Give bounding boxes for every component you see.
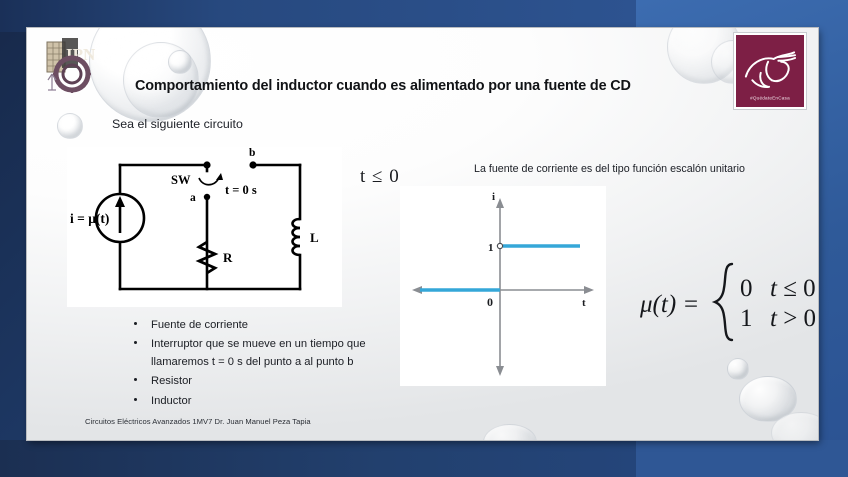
background-bottom-right-strip	[636, 440, 848, 477]
campaign-tagline: #QuédateEnCasa	[721, 95, 818, 101]
switch-time-label: t = 0 s	[225, 183, 257, 197]
list-item: Fuente de corriente	[128, 316, 378, 334]
screen: IPN	[0, 0, 848, 477]
source-label: i = μ(t)	[70, 211, 109, 226]
step-function-chart: i t 1 0	[400, 186, 606, 386]
bubble-decoration	[739, 376, 797, 422]
open-circle-marker	[497, 243, 502, 248]
y-axis-arrow-up	[496, 198, 504, 208]
bubble-decoration	[168, 50, 192, 74]
node-b-label: b	[249, 147, 255, 159]
bullet-dot-icon	[134, 378, 137, 381]
equation-row-1-value: 1	[740, 305, 753, 332]
list-item-label: Resistor	[151, 375, 192, 387]
university-logo: #QuédateEnCasa	[734, 33, 806, 109]
x-axis-label: t	[582, 297, 586, 309]
node-top-dot	[203, 161, 210, 168]
bubble-decoration	[667, 28, 741, 84]
bubble-decoration	[727, 358, 749, 380]
resistor-label: R	[223, 250, 233, 265]
circuit-diagram: i = μ(t) SW t = 0 s a b R L	[67, 147, 342, 307]
node-a-dot	[204, 194, 210, 200]
list-item-label: Interruptor que se mueve en un tiempo qu…	[151, 338, 366, 368]
source-description-text: La fuente de corriente es del tipo funci…	[474, 161, 774, 178]
bubble-decoration	[483, 424, 537, 440]
piecewise-equation: μ(t) = 0 t ≤ 0 1 t > 0	[640, 254, 818, 350]
ipn-logo-icon: IPN	[40, 34, 103, 96]
inductor-label: L	[310, 230, 319, 245]
node-b-dot	[249, 161, 256, 168]
bubble-decoration	[771, 412, 818, 440]
bullet-dot-icon	[134, 322, 137, 325]
equation-lhs: μ(t) =	[640, 291, 699, 318]
list-item-label: Inductor	[151, 395, 191, 407]
list-item-label: Fuente de corriente	[151, 319, 248, 331]
bullet-dot-icon	[134, 341, 137, 344]
equation-row-0-condition: t ≤ 0	[770, 275, 816, 302]
origin-label: 0	[487, 295, 493, 309]
equation-row-1-condition: t > 0	[770, 305, 816, 332]
page-title: Comportamiento del inductor cuando es al…	[135, 78, 735, 94]
background-bottom-strip	[0, 440, 636, 477]
presentation-slide: IPN	[27, 28, 818, 440]
equation-row-0-value: 0	[740, 275, 753, 302]
horse-emblem-icon	[740, 45, 800, 97]
x-axis-arrow-right	[584, 286, 594, 294]
list-item: Interruptor que se mueve en un tiempo qu…	[128, 335, 378, 371]
y-axis-arrow-down	[496, 366, 504, 376]
list-item: Resistor	[128, 372, 378, 390]
y-tick-label-1: 1	[488, 242, 494, 254]
node-a-label: a	[190, 192, 196, 204]
bubble-decoration	[89, 28, 211, 122]
slide-subheading: Sea el siguiente circuito	[112, 117, 243, 131]
switch-label: SW	[171, 173, 191, 187]
bubble-decoration	[57, 113, 83, 139]
time-condition-label: t ≤ 0	[360, 166, 400, 188]
slide-footer: Circuitos Eléctricos Avanzados 1MV7 Dr. …	[85, 417, 311, 426]
y-axis-label: i	[492, 191, 495, 203]
bullet-dot-icon	[134, 398, 137, 401]
feature-bullet-list: Fuente de corriente Interruptor que se m…	[128, 316, 378, 411]
list-item: Inductor	[128, 392, 378, 410]
